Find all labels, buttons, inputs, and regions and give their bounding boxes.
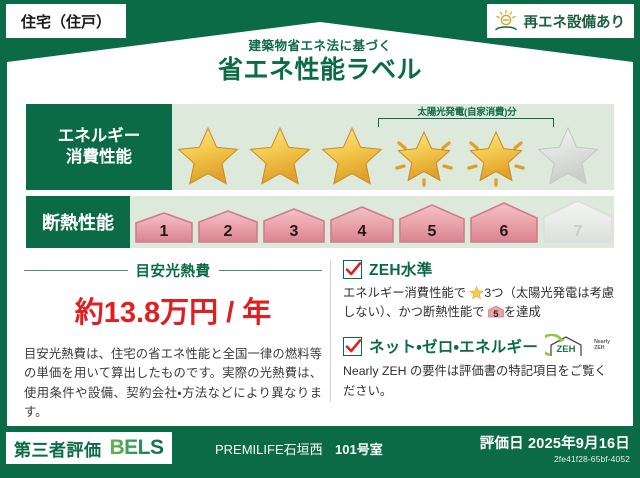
criterion-zeh-standard-header: ZEH水準 xyxy=(343,258,616,280)
star-empty-icon xyxy=(534,123,602,187)
checkbox-net-zero-energy xyxy=(343,337,362,356)
heading-rule-right xyxy=(219,270,323,272)
category-tag: 住宅（住戸） xyxy=(6,4,126,38)
energy-performance-body: 太陽光発電(自家消費)分 xyxy=(172,104,614,190)
zeh-logo-subtext-line2: ZEH xyxy=(594,346,610,352)
insulation-performance-body: 1 2 3 xyxy=(130,196,614,248)
star-rating: 太陽光発電(自家消費)分 xyxy=(172,104,614,190)
zeh-logo-subtext: Nearly ZEH xyxy=(594,340,610,352)
star-4-solar xyxy=(390,123,458,187)
desc-part-3: を達成 xyxy=(504,305,541,319)
evaluation-info: 評価日 2025年9月16日 2fe41f28-65bf-4052 xyxy=(480,432,630,464)
energy-cost-heading-label: 目安光熱費 xyxy=(136,260,211,281)
bels-logo-text: BELS xyxy=(110,436,164,460)
insulation-badge-2: 2 xyxy=(197,209,259,244)
criterion-net-zero-energy-title: ネット・ゼロ・エネルギー xyxy=(369,335,538,357)
insulation-performance-label: 断熱性能 xyxy=(26,196,130,248)
insulation-badge-7: 7 xyxy=(542,199,614,244)
criteria-section: ZEH水準 エネルギー消費性能で 3つ（太陽光発電は考慮しない）、かつ断熱性能で… xyxy=(343,258,616,408)
criterion-net-zero-energy-desc: Nearly ZEH の要件は評価書の特記項目をご覧ください。 xyxy=(343,362,616,400)
insulation-badge-2-value: 2 xyxy=(197,223,259,241)
title-main: 省エネ性能ラベル xyxy=(0,55,640,86)
category-tag-label: 住宅（住戸） xyxy=(21,11,111,32)
check-icon xyxy=(345,261,362,278)
criterion-net-zero-energy-header: ネット・ゼロ・エネルギー ZEH Nearly ZEH xyxy=(343,334,616,358)
star-row xyxy=(172,122,614,188)
energy-performance-label-line1: エネルギー xyxy=(58,126,141,147)
property-name: PREMILIFE石垣西 xyxy=(215,439,323,458)
solar-annotation-label: 太陽光発電(自家消費)分 xyxy=(376,104,558,118)
energy-performance-label: 住宅（住戸） 再エネ設備あり 建築物省エネ法に基づく 省エネ性能ラベル xyxy=(0,0,640,478)
star-filled-solar-icon xyxy=(390,123,458,187)
heading-rule-left xyxy=(24,270,128,272)
evaluation-date: 評価日 2025年9月16日 xyxy=(480,432,630,453)
insulation-badge-7-value: 7 xyxy=(542,223,614,241)
energy-cost-value: 約13.8万円 / 年 xyxy=(24,289,322,331)
room-number: 101号室 xyxy=(335,439,383,458)
insulation-badge-5-value: 5 xyxy=(398,223,466,241)
energy-cost-heading: 目安光熱費 xyxy=(24,260,322,281)
label-footer: 第三者評価 BELS PREMILIFE石垣西 101号室 評価日 2025年9… xyxy=(0,426,640,478)
insulation-badge-1: 1 xyxy=(134,211,194,244)
star-icon xyxy=(469,285,484,300)
label-title: 建築物省エネ法に基づく 省エネ性能ラベル xyxy=(0,40,640,86)
zeh-house-icon: ZEH xyxy=(545,334,587,358)
star-filled-solar-icon xyxy=(462,123,530,187)
criterion-zeh-standard: ZEH水準 エネルギー消費性能で 3つ（太陽光発電は考慮しない）、かつ断熱性能で… xyxy=(343,258,616,322)
title-subtitle: 建築物省エネ法に基づく xyxy=(0,40,640,54)
energy-performance-row: エネルギー 消費性能 太陽光発電(自家消費)分 xyxy=(26,104,614,190)
star-filled-icon xyxy=(174,123,242,187)
insulation-badge-1-value: 1 xyxy=(134,223,194,241)
third-party-label: 第三者評価 xyxy=(14,436,102,461)
energy-cost-note: 目安光熱費は、住宅の省エネ性能と全国一律の燃料等の単価を用いて算出したものです。… xyxy=(24,345,322,423)
renewable-energy-badge: 再エネ設備あり xyxy=(487,4,635,38)
energy-performance-label: エネルギー 消費性能 xyxy=(26,104,172,190)
check-icon xyxy=(345,338,362,355)
insulation-level-inline-value: 5 xyxy=(488,310,504,320)
criterion-net-zero-energy: ネット・ゼロ・エネルギー ZEH Nearly ZEH Nearly ZEH の… xyxy=(343,334,616,400)
criterion-zeh-standard-desc: エネルギー消費性能で 3つ（太陽光発電は考慮しない）、かつ断熱性能で 5 を達成 xyxy=(343,284,616,322)
star-1 xyxy=(174,123,242,187)
energy-cost-section: 目安光熱費 約13.8万円 / 年 目安光熱費は、住宅の省エネ性能と全国一律の燃… xyxy=(24,258,330,408)
insulation-badge-row: 1 2 3 xyxy=(130,196,614,248)
insulation-badge-5: 5 xyxy=(398,203,466,244)
renewable-energy-label: 再エネ設備あり xyxy=(524,11,626,32)
star-filled-icon xyxy=(318,123,386,187)
performance-section: エネルギー 消費性能 太陽光発電(自家消費)分 xyxy=(26,104,614,248)
star-filled-icon xyxy=(246,123,314,187)
insulation-badge-4-value: 4 xyxy=(329,223,395,241)
star-3 xyxy=(318,123,386,187)
svg-text:ZEH: ZEH xyxy=(557,344,576,355)
checkbox-zeh-standard xyxy=(343,260,362,279)
insulation-badge-6-value: 6 xyxy=(469,223,539,241)
star-6-empty xyxy=(534,123,602,187)
insulation-badge-3: 3 xyxy=(262,207,326,244)
insulation-level-inline-badge: 5 xyxy=(488,304,504,319)
star-2 xyxy=(246,123,314,187)
insulation-badge-4: 4 xyxy=(329,205,395,244)
insulation-performance-row: 断熱性能 xyxy=(26,196,614,248)
column-divider xyxy=(330,260,331,402)
bels-evaluation-box: 第三者評価 BELS xyxy=(6,432,172,464)
insulation-badge-3-value: 3 xyxy=(262,223,326,241)
criterion-zeh-standard-title: ZEH水準 xyxy=(369,258,433,280)
star-5-solar xyxy=(462,123,530,187)
energy-performance-label-line2: 消費性能 xyxy=(58,147,141,168)
sun-icon xyxy=(493,9,519,33)
desc-part-1: エネルギー消費性能で xyxy=(343,286,466,300)
lower-content: 目安光熱費 約13.8万円 / 年 目安光熱費は、住宅の省エネ性能と全国一律の燃… xyxy=(24,258,616,408)
evaluation-id: 2fe41f28-65bf-4052 xyxy=(480,454,630,464)
insulation-badge-6: 6 xyxy=(469,201,539,244)
